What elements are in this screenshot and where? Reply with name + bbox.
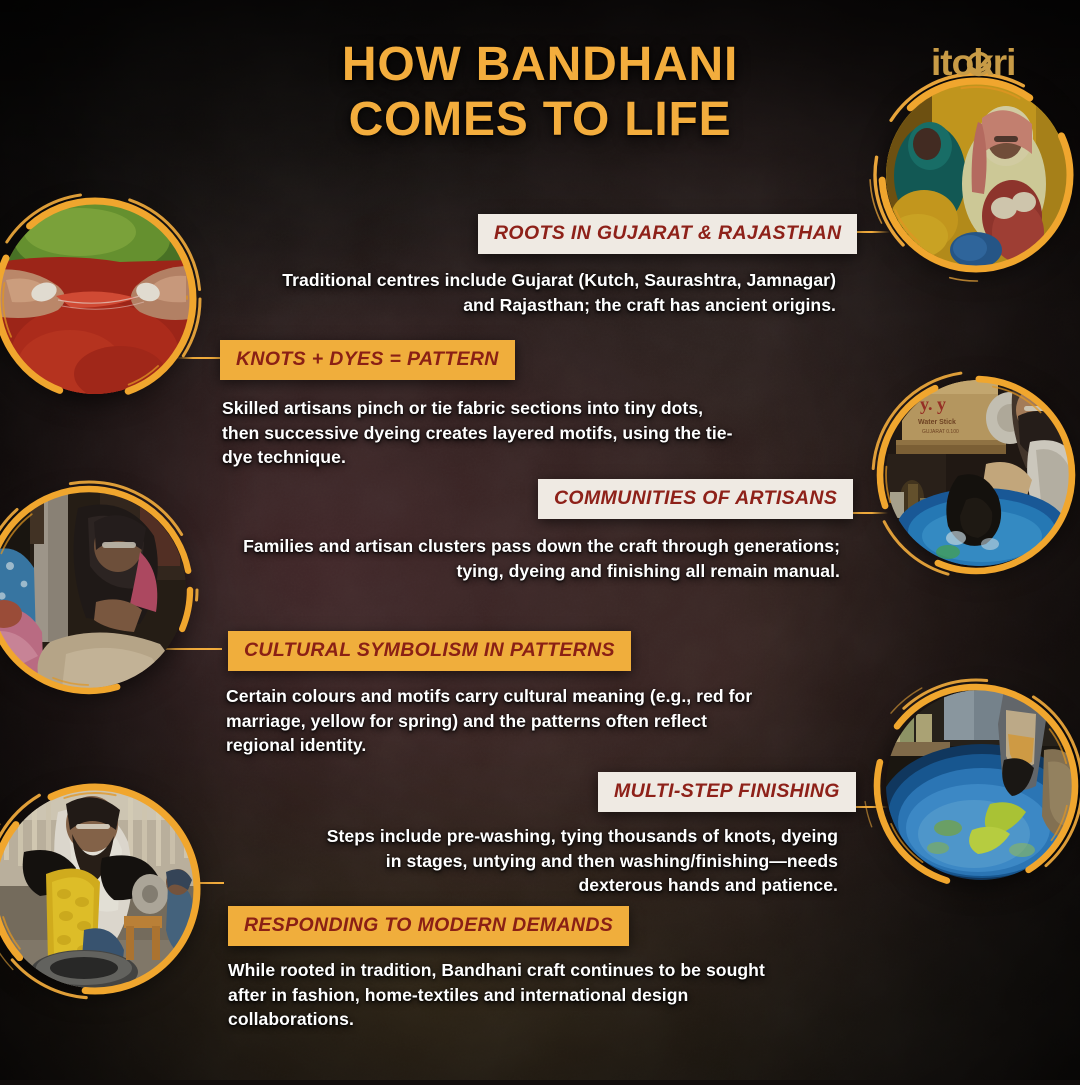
heading-roots: ROOTS IN GUJARAT & RAJASTHAN xyxy=(478,214,857,254)
photo-dyer-yellow-cloth xyxy=(0,776,216,1014)
body-communities: Families and artisan clusters pass down … xyxy=(240,534,840,583)
svg-text:itokri: itokri xyxy=(931,42,1015,83)
page-title-line-1: HOW BANDHANI xyxy=(0,38,1080,93)
photo-ring-brush xyxy=(0,776,216,1014)
heading-modern: RESPONDING TO MODERN DEMANDS xyxy=(228,906,629,946)
photo-ring-brush xyxy=(872,676,1080,908)
heading-knots-dyes: KNOTS + DYES = PATTERN xyxy=(220,340,515,380)
photo-hands-red-fabric xyxy=(0,192,210,414)
body-symbolism: Certain colours and motifs carry cultura… xyxy=(226,684,766,758)
body-roots: Traditional centres include Gujarat (Kut… xyxy=(278,268,836,317)
body-finishing: Steps include pre-washing, tying thousan… xyxy=(320,824,838,898)
photo-ring-brush xyxy=(0,478,210,716)
body-modern: While rooted in tradition, Bandhani craf… xyxy=(228,958,780,1032)
heading-communities: COMMUNITIES OF ARTISANS xyxy=(538,479,853,519)
body-knots-dyes: Skilled artisans pinch or tie fabric sec… xyxy=(222,396,742,470)
page-title: HOW BANDHANI COMES TO LIFE xyxy=(0,38,1080,147)
heading-symbolism: CULTURAL SYMBOLISM IN PATTERNS xyxy=(228,631,631,671)
itokri-logo[interactable]: itokri xyxy=(929,40,1044,88)
photo-ring-brush xyxy=(0,192,210,414)
heading-finishing: MULTI-STEP FINISHING xyxy=(598,772,856,812)
photo-blue-dye-vat xyxy=(872,676,1080,908)
photo-dyer-blue-tub: y. y Water Stick GUJARAT 0.100 xyxy=(872,368,1080,586)
photo-ring-brush xyxy=(872,368,1080,586)
page-title-line-2: COMES TO LIFE xyxy=(0,93,1080,148)
photo-women-outdoor-tying xyxy=(0,478,210,716)
